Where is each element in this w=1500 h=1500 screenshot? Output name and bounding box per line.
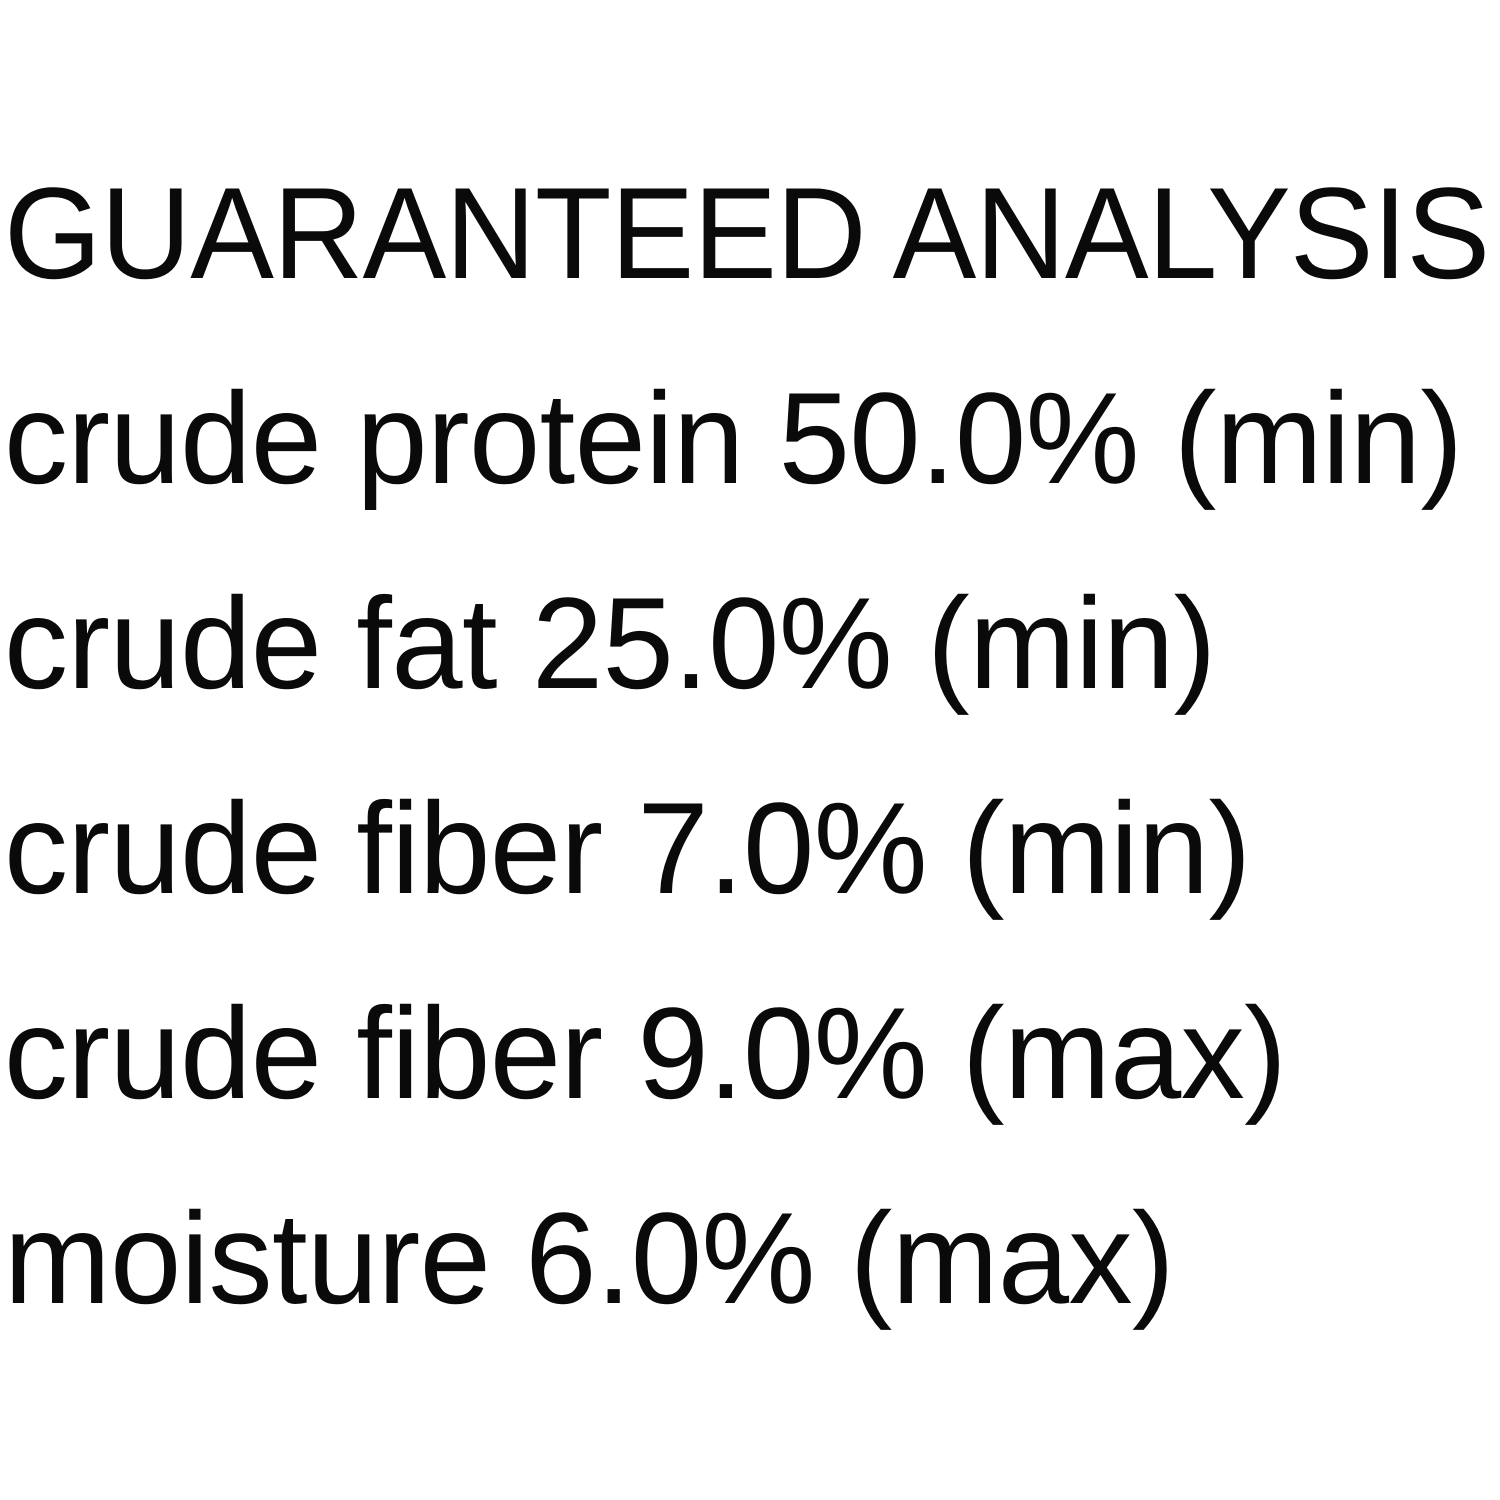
guaranteed-analysis-heading: GUARANTEED ANALYSIS:	[4, 168, 1500, 298]
guaranteed-analysis-panel: GUARANTEED ANALYSIS: crude protein 50.0%…	[0, 0, 1500, 1500]
analysis-line-crude-fat: crude fat 25.0% (min)	[4, 578, 1216, 708]
analysis-line-crude-fiber-max: crude fiber 9.0% (max)	[4, 988, 1286, 1118]
analysis-line-crude-protein: crude protein 50.0% (min)	[4, 373, 1462, 503]
guaranteed-analysis-label: GUARANTEED ANALYSIS: crude protein 50.0%…	[0, 0, 1500, 1500]
analysis-line-crude-fiber-min: crude fiber 7.0% (min)	[4, 783, 1251, 913]
analysis-line-moisture: moisture 6.0% (max)	[4, 1193, 1174, 1323]
